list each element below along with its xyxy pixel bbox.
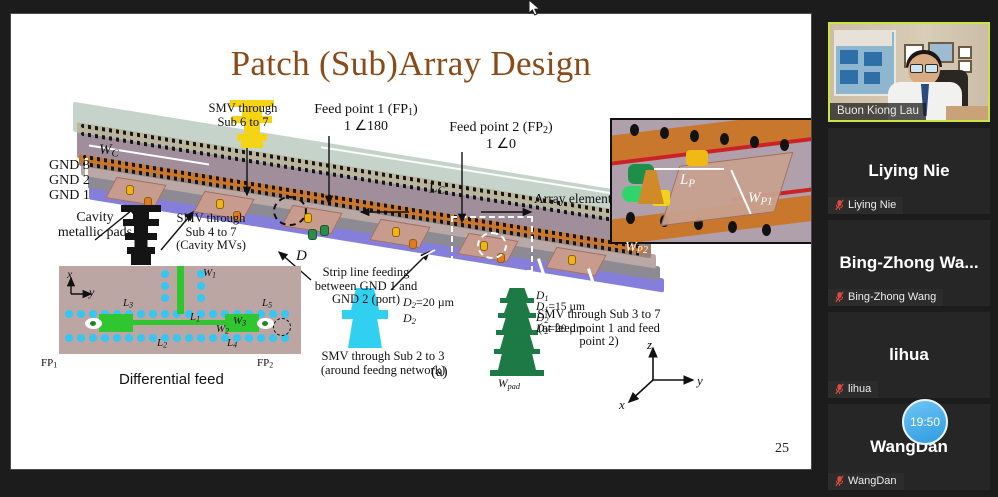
feed-highlight-circle <box>273 318 291 336</box>
label-Lp: LP <box>680 172 695 190</box>
label-Lc: LC <box>428 179 446 199</box>
axis-z-label: z <box>647 338 652 352</box>
label-Wpad: Wpad <box>498 378 520 392</box>
label-differential-feed: Differential feed <box>119 372 224 388</box>
mic-muted-icon <box>835 475 844 487</box>
array-element-inset-photo: LP WP1 <box>610 118 811 244</box>
label-Wp3: WP3 <box>679 246 702 263</box>
mic-muted-icon <box>835 291 844 303</box>
label-L1: L1 <box>190 312 200 324</box>
participant-display-name: WangDan <box>828 437 990 457</box>
axis-x-label: x <box>619 398 625 412</box>
label-W3: W3 <box>233 316 246 328</box>
label-D2-value: D2=20 µm <box>536 323 585 337</box>
feed-trace-vertical <box>177 266 184 314</box>
label-FP2: FP2 <box>257 358 273 370</box>
inset-dim-Lp <box>654 168 724 170</box>
participant-display-name: Liying Nie <box>828 161 990 181</box>
self-name-label: Buon Kiong Lau <box>830 103 926 120</box>
label-gnd3: GND 3 <box>49 158 90 173</box>
figure-caption-a: (a) <box>431 364 448 380</box>
antenna-array-figure: LP WP1 <box>11 100 811 400</box>
video-tile-participant[interactable]: lihua lihua <box>828 312 990 398</box>
label-array-element: Array element <box>534 192 612 207</box>
mic-muted-icon <box>835 383 844 395</box>
slide-number: 25 <box>775 441 789 457</box>
video-tile-self[interactable]: Buon Kiong Lau <box>828 22 990 122</box>
label-gnd2: GND 2 <box>49 173 90 188</box>
mic-muted-icon <box>835 199 844 211</box>
feed-pad-left <box>99 314 133 332</box>
label-cavity-metallic-pads: Cavitymetallic pads <box>58 210 132 240</box>
label-smv-sub6-7: SMV throughSub 6 to 7 <box>209 102 278 129</box>
label-smv-sub4-7: SMV throughSub 4 to 7(Cavity MVs) <box>176 212 246 253</box>
participant-name-tag: lihua <box>828 381 878 398</box>
feed-port-right <box>257 318 274 329</box>
label-feed-point-1: Feed point 1 (FP1) 1 ∠180 <box>314 102 417 134</box>
mouse-cursor <box>528 0 542 18</box>
label-L4: L4 <box>227 338 237 350</box>
participant-name-text: WangDan <box>848 475 897 487</box>
label-D2-left: D2=20 µm <box>403 296 454 310</box>
label-stripline-feeding: Strip line feedingbetween GND 1 andGND 2… <box>315 266 417 307</box>
label-smv-sub2-3: SMV through Sub 2 to 3(around feedng net… <box>321 350 445 377</box>
page-title: Patch (Sub)Array Design <box>11 44 811 84</box>
feed-port-left <box>85 318 102 329</box>
participant-display-name: Bing-Zhong Wa... <box>828 253 990 273</box>
participant-name-tag: Bing-Zhong Wang <box>828 289 943 306</box>
label-W1: W1 <box>203 268 216 280</box>
shared-content-region[interactable]: Patch (Sub)Array Design <box>0 0 820 497</box>
participant-name-text: Liying Nie <box>848 199 896 211</box>
participant-name-text: Bing-Zhong Wang <box>848 291 936 303</box>
label-D2-left-2: D2 <box>403 312 416 326</box>
label-D: D <box>296 248 307 264</box>
label-L2: L2 <box>157 338 167 350</box>
label-gnd1: GND 1 <box>49 188 90 203</box>
differential-feed-inset: x y W1 L3 L5 L1 W2 W3 <box>59 266 301 354</box>
participant-name-text: lihua <box>848 383 871 395</box>
video-tile-participant[interactable]: Liying Nie Liying Nie <box>828 128 990 214</box>
label-L3: L3 <box>123 298 133 310</box>
label-Wc: WC <box>99 142 119 160</box>
zoom-screen-share-window: Patch (Sub)Array Design <box>0 0 998 497</box>
axis-y-label: y <box>697 374 703 388</box>
label-W2: W2 <box>216 324 229 336</box>
participant-display-name: lihua <box>828 345 990 365</box>
label-Wp1: WP1 <box>748 190 773 208</box>
label-Wp2: WP2 <box>625 240 648 257</box>
participant-name-tag: WangDan <box>828 473 904 490</box>
participant-name-tag: Liying Nie <box>828 197 903 214</box>
presentation-slide: Patch (Sub)Array Design <box>11 14 811 469</box>
label-FP1: FP1 <box>41 358 57 370</box>
inset-pin-yellow <box>686 150 708 166</box>
label-L5: L5 <box>262 298 272 310</box>
video-tile-participant[interactable]: Bing-Zhong Wa... Bing-Zhong Wang <box>828 220 990 306</box>
label-feed-point-2: Feed point 2 (FP2) 1 ∠0 <box>449 120 552 152</box>
meeting-timer-badge[interactable]: 19:50 <box>902 399 948 445</box>
